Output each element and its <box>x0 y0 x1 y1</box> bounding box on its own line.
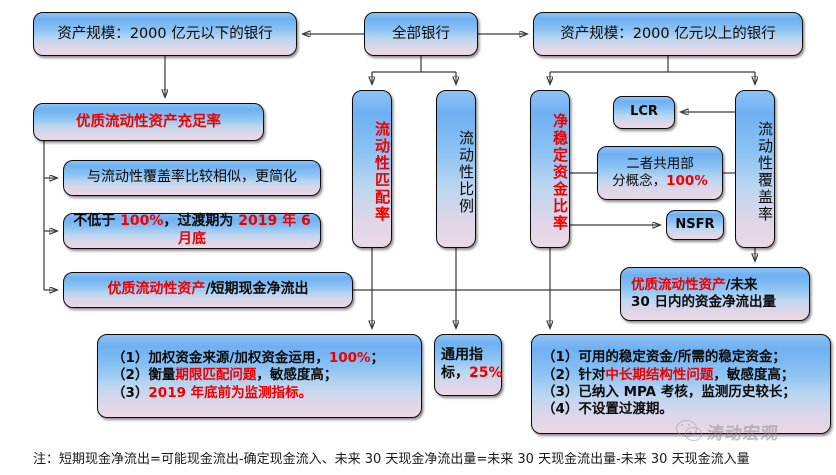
threshold-prefix: 不低于 <box>73 213 120 229</box>
shared-concept-line1: 二者共用部 <box>604 156 716 173</box>
detail-nsfr-list: （1）可用的稳定资金/所需的稳定资金； （2）针对中长期结构性问题，敏感度高； … <box>532 349 830 418</box>
node-liquidity-matching-ratio-label: 流动性匹配率 <box>372 121 391 223</box>
node-hqla-adequacy-ratio[interactable]: 优质流动性资产充足率 <box>33 103 264 141</box>
node-lcr-abbrev[interactable]: LCR <box>613 96 675 129</box>
shared-concept-percent: 100% <box>666 173 708 189</box>
detail-liquidity-matching-ratio[interactable]: （1）加权资金来源/加权资金运用，100%； （2）衡量期限匹配问题，敏感度高；… <box>97 334 422 418</box>
detail-nsfr-item-3: （3）已纳入 MPA 考核，监测历史较长； <box>542 384 824 401</box>
shared-concept-line2-text: 分概念， <box>612 173 666 189</box>
lcr-formula-slash: /未来 <box>726 277 758 293</box>
node-nsfr-abbrev[interactable]: NSFR <box>666 210 724 240</box>
node-liquidity-coverage-ratio[interactable]: 流动性覆盖率 <box>735 90 775 248</box>
detail-lr-list: 通用指 标，25% <box>435 347 501 383</box>
shared-concept-line2: 分概念，100% <box>604 173 716 190</box>
node-hqla-formula-label: 优质流动性资产/短期现金净流出 <box>64 281 352 299</box>
node-threshold-transition[interactable]: 不低于 100%，过渡期为 2019 年 6 月底 <box>63 213 321 249</box>
node-hqla-adequacy-ratio-label: 优质流动性资产充足率 <box>34 113 263 132</box>
node-large-bank[interactable]: 资产规模：2000 亿元以上的银行 <box>533 12 803 56</box>
detail-lmr-item-3: （3）2019 年底前为监测指标。 <box>112 385 415 402</box>
detail-lmr-item-2: （2）衡量期限匹配问题，敏感度高； <box>112 367 415 384</box>
detail-nsfr-item-2-suffix: ，敏感度高； <box>713 367 794 383</box>
footnote: 注：短期现金净流出=可能现金流出-确定现金流入、未来 30 天现金净流出量=未来… <box>33 448 823 467</box>
node-lcr-formula[interactable]: 优质流动性资产/未来 30 日内的资金净流出量 <box>620 267 810 321</box>
threshold-middle: ，过渡期为 <box>163 213 238 229</box>
node-net-stable-funding-ratio[interactable]: 净稳定资金比率 <box>530 90 570 248</box>
detail-nsfr-item-2-prefix: （2）针对 <box>542 367 605 383</box>
detail-lr-item-1: 通用指 <box>441 347 495 365</box>
lcr-formula-line2: 30 日内的资金净流出量 <box>631 294 803 311</box>
detail-lmr-item-1: （1）加权资金来源/加权资金运用，100%； <box>112 350 415 367</box>
detail-nsfr-item-2: （2）针对中长期结构性问题，敏感度高； <box>542 367 824 384</box>
node-liquidity-matching-ratio[interactable]: 流动性匹配率 <box>352 90 392 248</box>
detail-net-stable-funding-ratio[interactable]: （1）可用的稳定资金/所需的稳定资金； （2）针对中长期结构性问题，敏感度高； … <box>531 334 831 434</box>
node-lcr-abbrev-label: LCR <box>614 104 674 121</box>
detail-lmr-item-1-red: 100% <box>329 350 371 366</box>
detail-lmr-item-1-prefix: （1）加权资金来源/加权资金运用， <box>112 350 329 366</box>
detail-lr-item-2: 标，25% <box>441 365 495 383</box>
node-nsfr-abbrev-label: NSFR <box>667 217 723 234</box>
node-shared-concept[interactable]: 二者共用部 分概念，100% <box>597 146 723 200</box>
node-net-stable-funding-ratio-label: 净稳定资金比率 <box>550 113 569 232</box>
node-liquidity-coverage-ratio-label: 流动性覆盖率 <box>755 121 774 223</box>
node-all-banks[interactable]: 全部银行 <box>364 12 478 56</box>
node-similar-to-lcr[interactable]: 与流动性覆盖率比较相似，更简化 <box>63 160 321 196</box>
node-all-banks-label: 全部银行 <box>365 25 477 44</box>
detail-lr-item-2-red: 25% <box>469 365 503 381</box>
node-similar-to-lcr-label: 与流动性覆盖率比较相似，更简化 <box>64 169 320 187</box>
detail-nsfr-item-1: （1）可用的稳定资金/所需的稳定资金； <box>542 349 824 366</box>
detail-lmr-item-2-suffix: ，敏感度高； <box>256 367 337 383</box>
hqla-formula-denominator: /短期现金净流出 <box>205 281 308 297</box>
lcr-formula-line1: 优质流动性资产/未来 <box>631 277 803 294</box>
node-small-bank[interactable]: 资产规模：2000 亿元以下的银行 <box>33 12 297 56</box>
node-liquidity-ratio[interactable]: 流动性比例 <box>436 90 476 248</box>
node-hqla-formula[interactable]: 优质流动性资产/短期现金净流出 <box>63 272 353 308</box>
hqla-formula-numerator: 优质流动性资产 <box>107 281 205 297</box>
detail-lmr-item-2-red: 期限匹配问题 <box>175 367 256 383</box>
node-shared-concept-label: 二者共用部 分概念，100% <box>598 156 722 191</box>
detail-lr-item-2-prefix: 标， <box>441 365 469 381</box>
detail-lmr-item-1-suffix: ； <box>371 350 385 366</box>
node-small-bank-label: 资产规模：2000 亿元以下的银行 <box>34 25 296 44</box>
node-liquidity-ratio-label: 流动性比例 <box>456 130 475 215</box>
detail-lmr-item-2-prefix: （2）衡量 <box>112 367 175 383</box>
threshold-percent: 100% <box>120 213 163 229</box>
detail-nsfr-item-2-red: 中长期结构性问题 <box>605 367 713 383</box>
node-lcr-formula-label: 优质流动性资产/未来 30 日内的资金净流出量 <box>621 277 809 312</box>
detail-lmr-item-3-prefix: （3） <box>112 385 148 401</box>
lcr-formula-numerator: 优质流动性资产 <box>631 277 726 293</box>
diagram-canvas: 资产规模：2000 亿元以下的银行 全部银行 资产规模：2000 亿元以上的银行… <box>0 0 836 475</box>
node-threshold-transition-label: 不低于 100%，过渡期为 2019 年 6 月底 <box>64 213 320 249</box>
detail-liquidity-ratio[interactable]: 通用指 标，25% <box>434 334 502 396</box>
detail-lmr-item-3-red: 2019 年底前为监测指标。 <box>148 385 312 401</box>
detail-lmr-list: （1）加权资金来源/加权资金运用，100%； （2）衡量期限匹配问题，敏感度高；… <box>98 350 421 402</box>
detail-nsfr-item-4: （4）不设置过渡期。 <box>542 401 824 418</box>
node-large-bank-label: 资产规模：2000 亿元以上的银行 <box>534 25 802 44</box>
